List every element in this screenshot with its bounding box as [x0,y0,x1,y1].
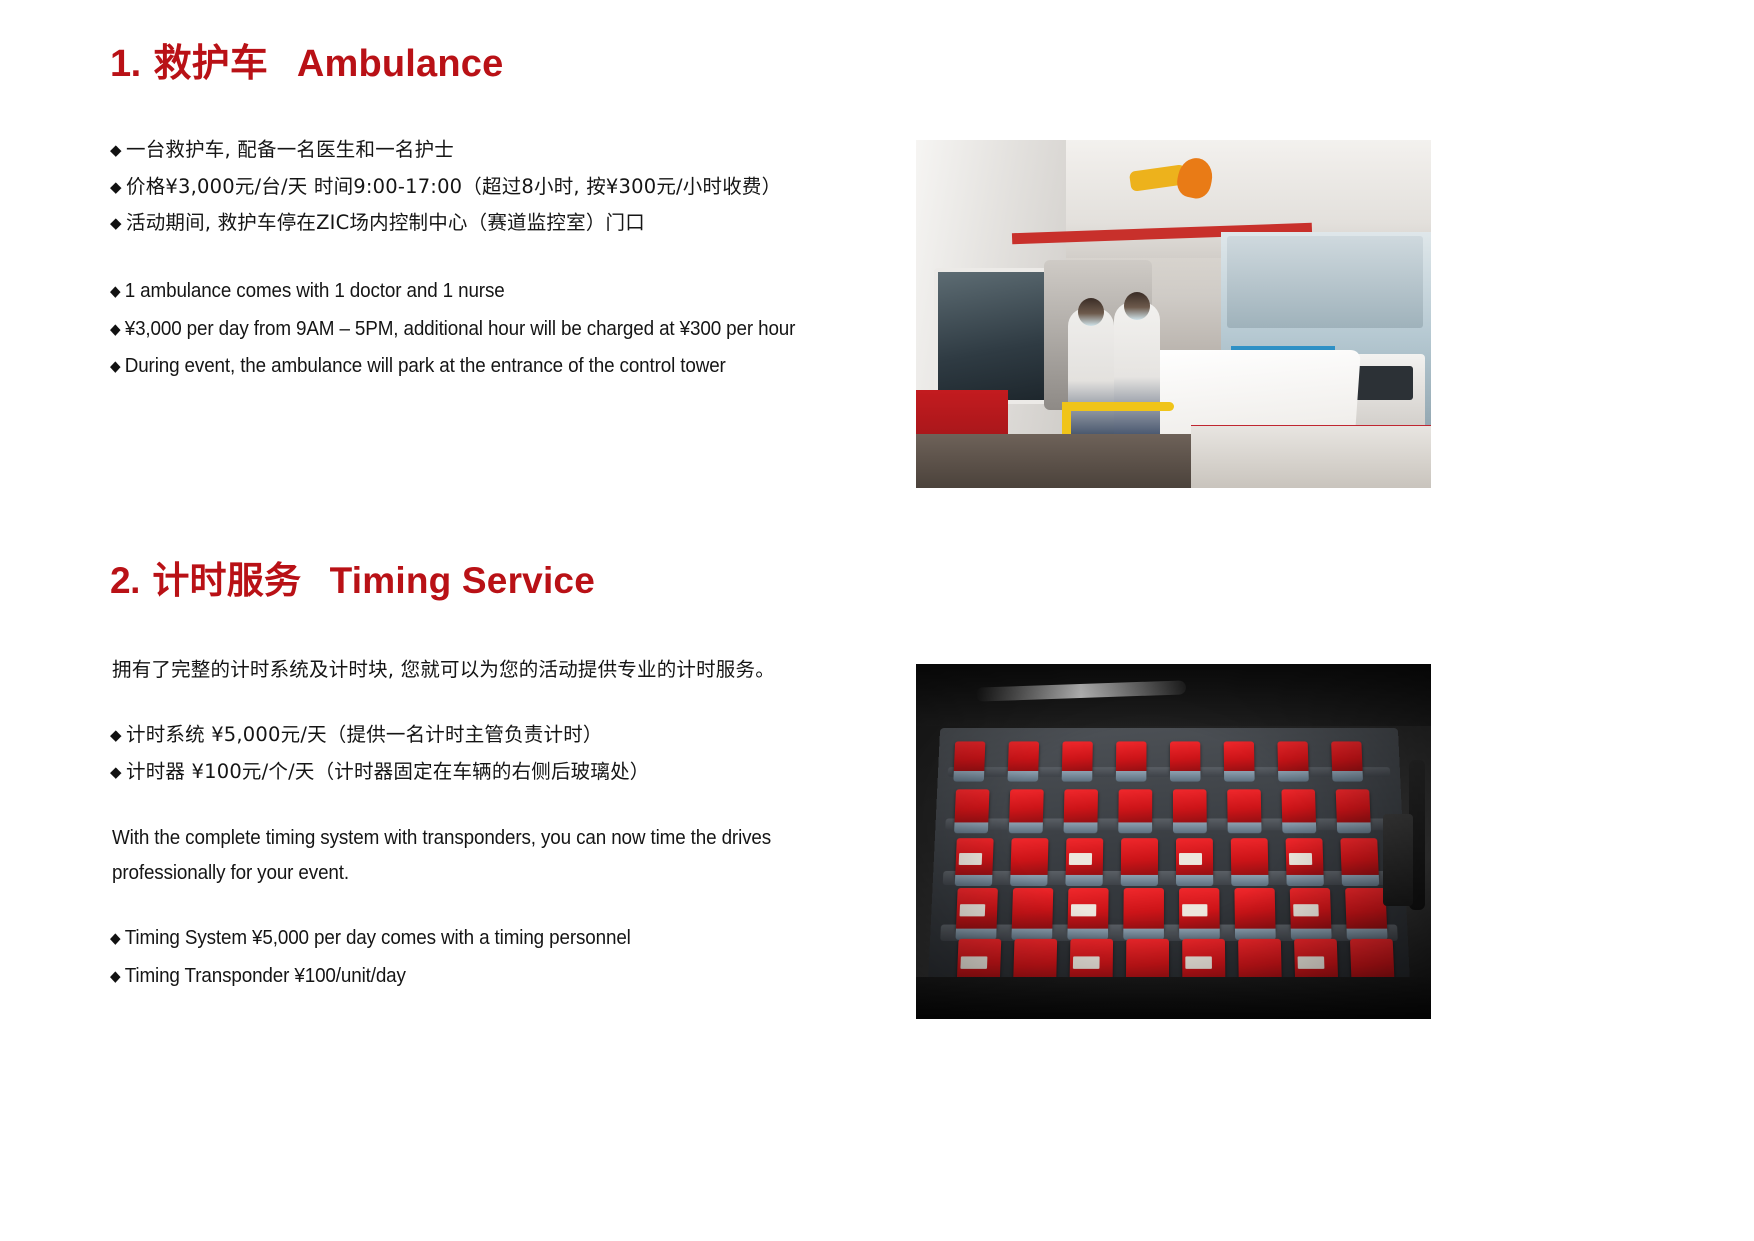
section-2-english-bullets: ◆Timing System ¥5,000 per day comes with… [110,928,676,1003]
section-2-title-en: Timing Service [330,560,595,601]
bullet-icon: ◆ [110,322,125,337]
section-1-chinese-bullets: ◆一台救护车, 配备一名医生和一名护士 ◆价格¥3,000元/台/天 时间9:0… [110,140,781,250]
list-item: ◆Timing Transponder ¥100/unit/day [110,966,631,987]
bullet-icon: ◆ [110,728,126,743]
section-1-number: 1. [110,43,141,85]
list-item: ◆Timing System ¥5,000 per day comes with… [110,928,631,949]
section-2-heading: 2. 计时服务 Timing Service [110,550,595,604]
bullet-icon: ◆ [110,284,125,299]
section-1-heading: 1. 救护车 Ambulance [110,32,503,87]
ambulance-interior-photo [916,140,1431,488]
bullet-icon: ◆ [110,765,126,780]
list-item-text: 计时器 ¥100元/个/天（计时器固定在车辆的右侧后玻璃处） [126,760,649,783]
list-item-text: 计时系统 ¥5,000元/天（提供一名计时主管负责计时） [126,723,603,746]
section-1-title-cn: 救护车 [153,43,268,85]
timing-transponders-photo [916,664,1431,1019]
section-1-english-bullets: ◆1 ambulance comes with 1 doctor and 1 n… [110,281,855,394]
section-1-title-en: Ambulance [297,43,504,85]
section-2-title-cn: 计时服务 [152,560,301,601]
list-item-text: Timing Transponder ¥100/unit/day [125,964,406,987]
section-2-chinese-bullets: ◆计时系统 ¥5,000元/天（提供一名计时主管负责计时） ◆计时器 ¥100元… [110,725,649,798]
list-item: ◆价格¥3,000元/台/天 时间9:00-17:00（超过8小时, 按¥300… [110,177,781,197]
paragraph-line: professionally for your event. [112,863,793,884]
list-item-text: 1 ambulance comes with 1 doctor and 1 nu… [125,279,505,302]
bullet-icon: ◆ [110,931,125,946]
section-2-intro-paragraph: 拥有了完整的计时系统及计时块, 您就可以为您的活动提供专业的计时服务。 [112,660,775,680]
section-2-english-paragraph: With the complete timing system with tra… [112,828,852,897]
list-item: ◆During event, the ambulance will park a… [110,356,795,377]
list-item: ◆¥3,000 per day from 9AM – 5PM, addition… [110,319,795,340]
list-item: ◆计时系统 ¥5,000元/天（提供一名计时主管负责计时） [110,725,649,745]
list-item-text: 价格¥3,000元/台/天 时间9:00-17:00（超过8小时, 按¥300元… [126,175,781,198]
list-item-text: During event, the ambulance will park at… [125,354,726,377]
list-item-text: 一台救护车, 配备一名医生和一名护士 [126,138,454,161]
list-item: ◆计时器 ¥100元/个/天（计时器固定在车辆的右侧后玻璃处） [110,762,649,782]
document-page: 1. 救护车 Ambulance ◆一台救护车, 配备一名医生和一名护士 ◆价格… [0,0,1754,1241]
list-item-text: Timing System ¥5,000 per day comes with … [125,926,631,949]
bullet-icon: ◆ [110,359,125,374]
section-2-number: 2. [110,560,140,601]
list-item: ◆活动期间, 救护车停在ZIC场内控制中心（赛道监控室）门口 [110,213,781,233]
list-item: ◆1 ambulance comes with 1 doctor and 1 n… [110,281,795,302]
bullet-icon: ◆ [110,180,126,195]
list-item-text: 活动期间, 救护车停在ZIC场内控制中心（赛道监控室）门口 [126,211,645,234]
bullet-icon: ◆ [110,143,126,158]
bullet-icon: ◆ [110,216,126,231]
paragraph-line: With the complete timing system with tra… [112,828,793,849]
bullet-icon: ◆ [110,969,125,984]
list-item: ◆一台救护车, 配备一名医生和一名护士 [110,140,781,160]
list-item-text: ¥3,000 per day from 9AM – 5PM, additiona… [125,317,796,340]
paragraph-text: 拥有了完整的计时系统及计时块, 您就可以为您的活动提供专业的计时服务。 [112,660,775,680]
